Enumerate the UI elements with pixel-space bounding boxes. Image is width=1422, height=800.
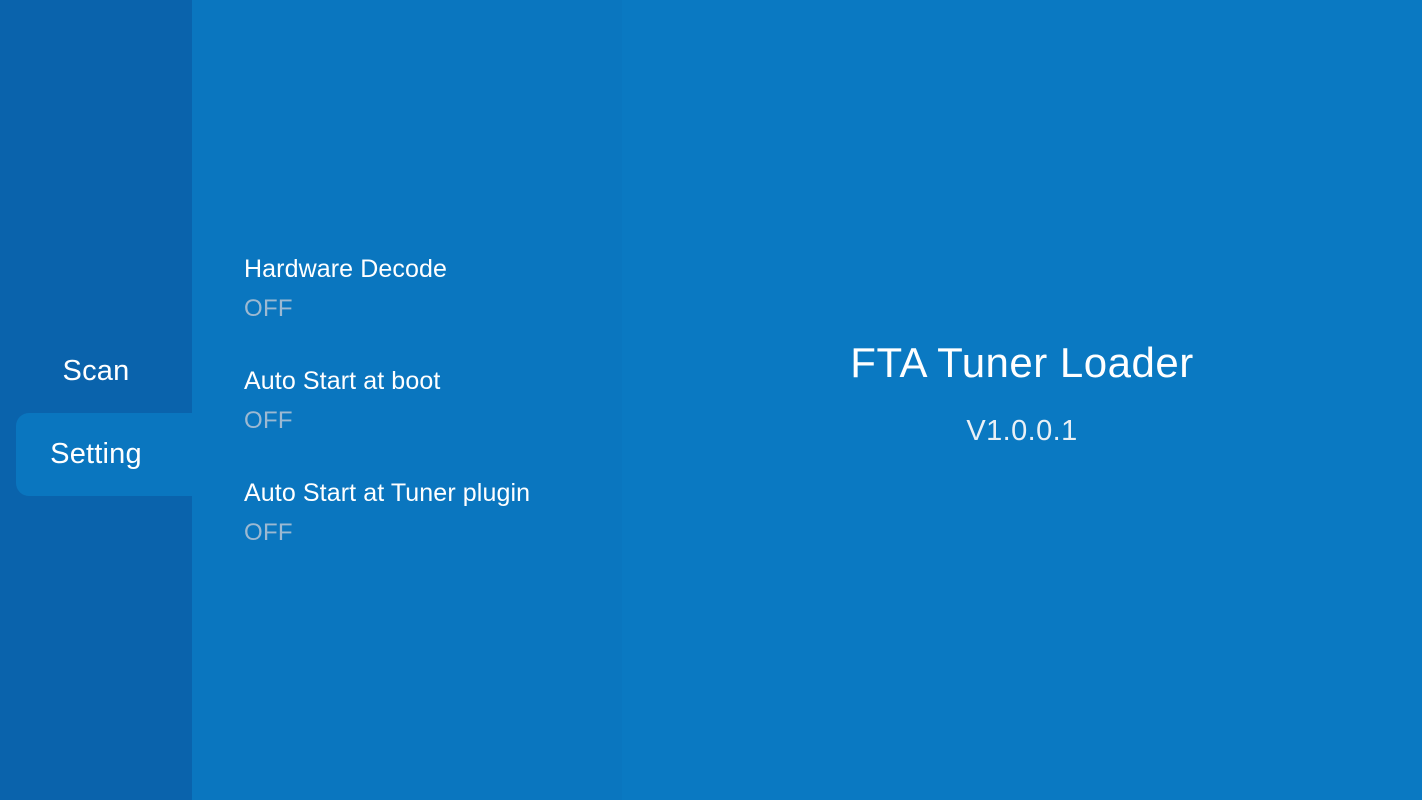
app-title: FTA Tuner Loader — [622, 340, 1422, 386]
app-version: V1.0.0.1 — [622, 416, 1422, 448]
setting-value: OFF — [244, 405, 622, 436]
setting-value: OFF — [244, 517, 622, 548]
sidebar-nav-list: Scan Setting — [0, 330, 192, 496]
content-panel: FTA Tuner Loader V1.0.0.1 — [622, 0, 1422, 800]
setting-row-hardware-decode[interactable]: Hardware Decode OFF — [244, 252, 622, 324]
setting-title: Auto Start at boot — [244, 364, 622, 398]
settings-list: Hardware Decode OFF Auto Start at boot O… — [244, 252, 622, 549]
setting-title: Hardware Decode — [244, 252, 622, 286]
setting-value: OFF — [244, 293, 622, 324]
app-root: Scan Setting Hardware Decode OFF Auto St… — [0, 0, 1422, 800]
sidebar-item-setting-label: Setting — [50, 440, 142, 469]
sidebar-item-scan-label: Scan — [63, 357, 130, 386]
setting-row-auto-start-at-boot[interactable]: Auto Start at boot OFF — [244, 364, 622, 436]
settings-panel: Hardware Decode OFF Auto Start at boot O… — [192, 0, 622, 800]
setting-row-auto-start-at-tuner-plugin[interactable]: Auto Start at Tuner plugin OFF — [244, 476, 622, 548]
sidebar-item-setting[interactable]: Setting — [0, 413, 192, 496]
sidebar: Scan Setting — [0, 0, 192, 800]
about-block: FTA Tuner Loader V1.0.0.1 — [622, 340, 1422, 448]
setting-title: Auto Start at Tuner plugin — [244, 476, 622, 510]
sidebar-item-scan[interactable]: Scan — [0, 330, 192, 413]
